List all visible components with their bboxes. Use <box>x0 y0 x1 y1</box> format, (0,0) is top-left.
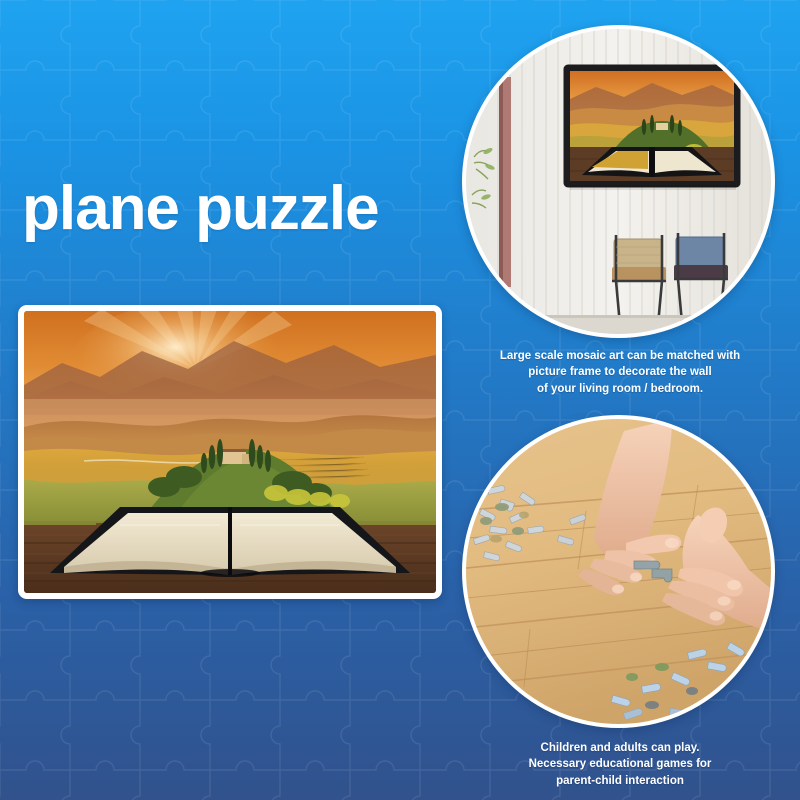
caption-line: Large scale mosaic art can be matched wi… <box>455 348 785 364</box>
caption-line: of your living room / bedroom. <box>455 381 785 397</box>
caption-line: Children and adults can play. <box>455 740 785 756</box>
feature-image-room[interactable] <box>462 25 775 338</box>
caption-line: picture frame to decorate the wall <box>455 364 785 380</box>
feature-caption-kids: Children and adults can play. Necessary … <box>455 740 785 789</box>
product-poster: plane puzzle <box>0 0 800 800</box>
children-hands-puzzle-image <box>466 419 771 724</box>
caption-line: parent-child interaction <box>455 773 785 789</box>
feature-image-kids[interactable] <box>462 415 775 728</box>
caption-line: Necessary educational games for <box>455 756 785 772</box>
room-wall-art-image <box>466 29 771 334</box>
feature-caption-room: Large scale mosaic art can be matched wi… <box>455 348 785 397</box>
pop-up-book-landscape-image <box>24 311 436 593</box>
main-product-photo[interactable] <box>18 305 442 599</box>
page-title: plane puzzle <box>22 178 379 240</box>
